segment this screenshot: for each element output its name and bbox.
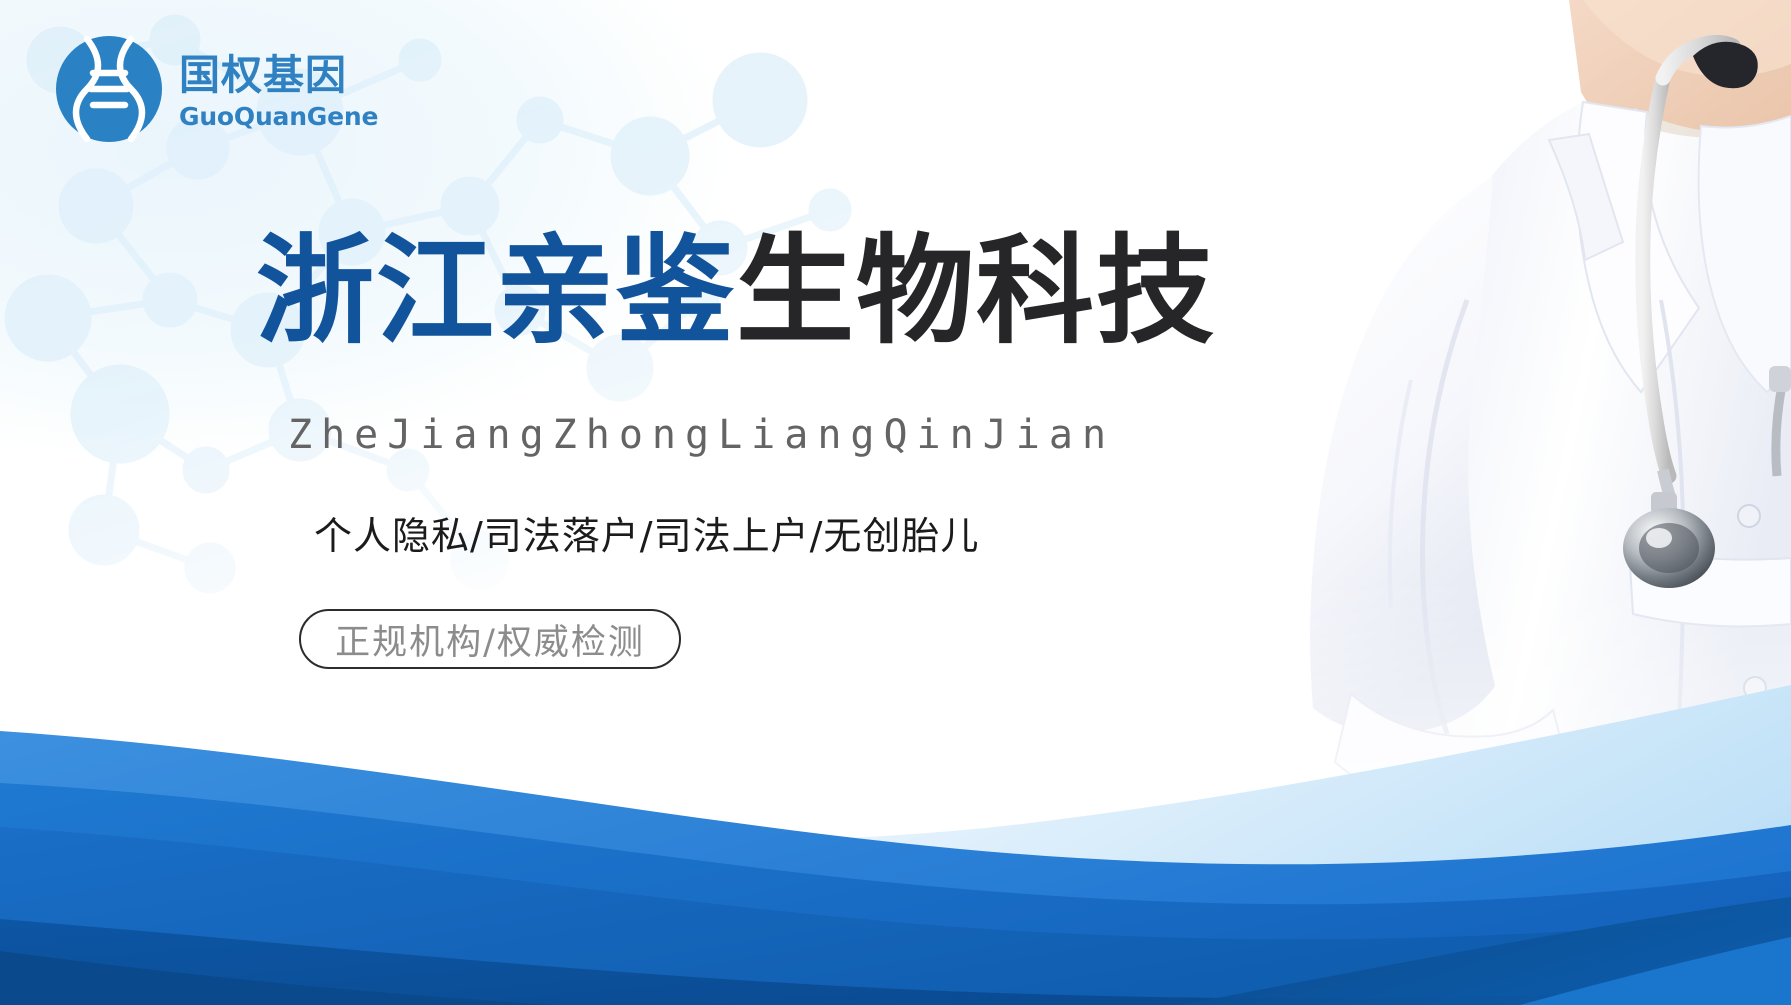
credentials-badge-label: 正规机构/权威检测 — [335, 614, 645, 665]
credentials-badge[interactable]: 正规机构/权威检测 — [299, 609, 681, 669]
brand-logo[interactable]: 国权基因 GuoQuanGene — [53, 33, 378, 145]
brand-name-en: GuoQuanGene — [179, 104, 378, 129]
services-list: 个人隐私/司法落户/司法上户/无创胎儿 — [314, 505, 979, 560]
dna-helix-circle-icon — [53, 33, 165, 145]
page-title-highlight: 浙江亲鉴 — [256, 222, 736, 360]
doctor-photo — [1231, 0, 1791, 930]
promotional-banner: 国权基因 GuoQuanGene 浙江亲鉴生物科技 ZheJiangZhongL… — [0, 0, 1791, 1005]
brand-wordmark: 国权基因 GuoQuanGene — [179, 49, 378, 130]
bottom-wave-decoration — [0, 675, 1791, 1005]
pinyin-subtitle: ZheJiangZhongLiangQinJian — [288, 412, 1115, 458]
page-title-rest: 生物科技 — [736, 222, 1216, 360]
page-title: 浙江亲鉴生物科技 — [256, 228, 1216, 355]
brand-name-cn: 国权基因 — [179, 53, 378, 99]
